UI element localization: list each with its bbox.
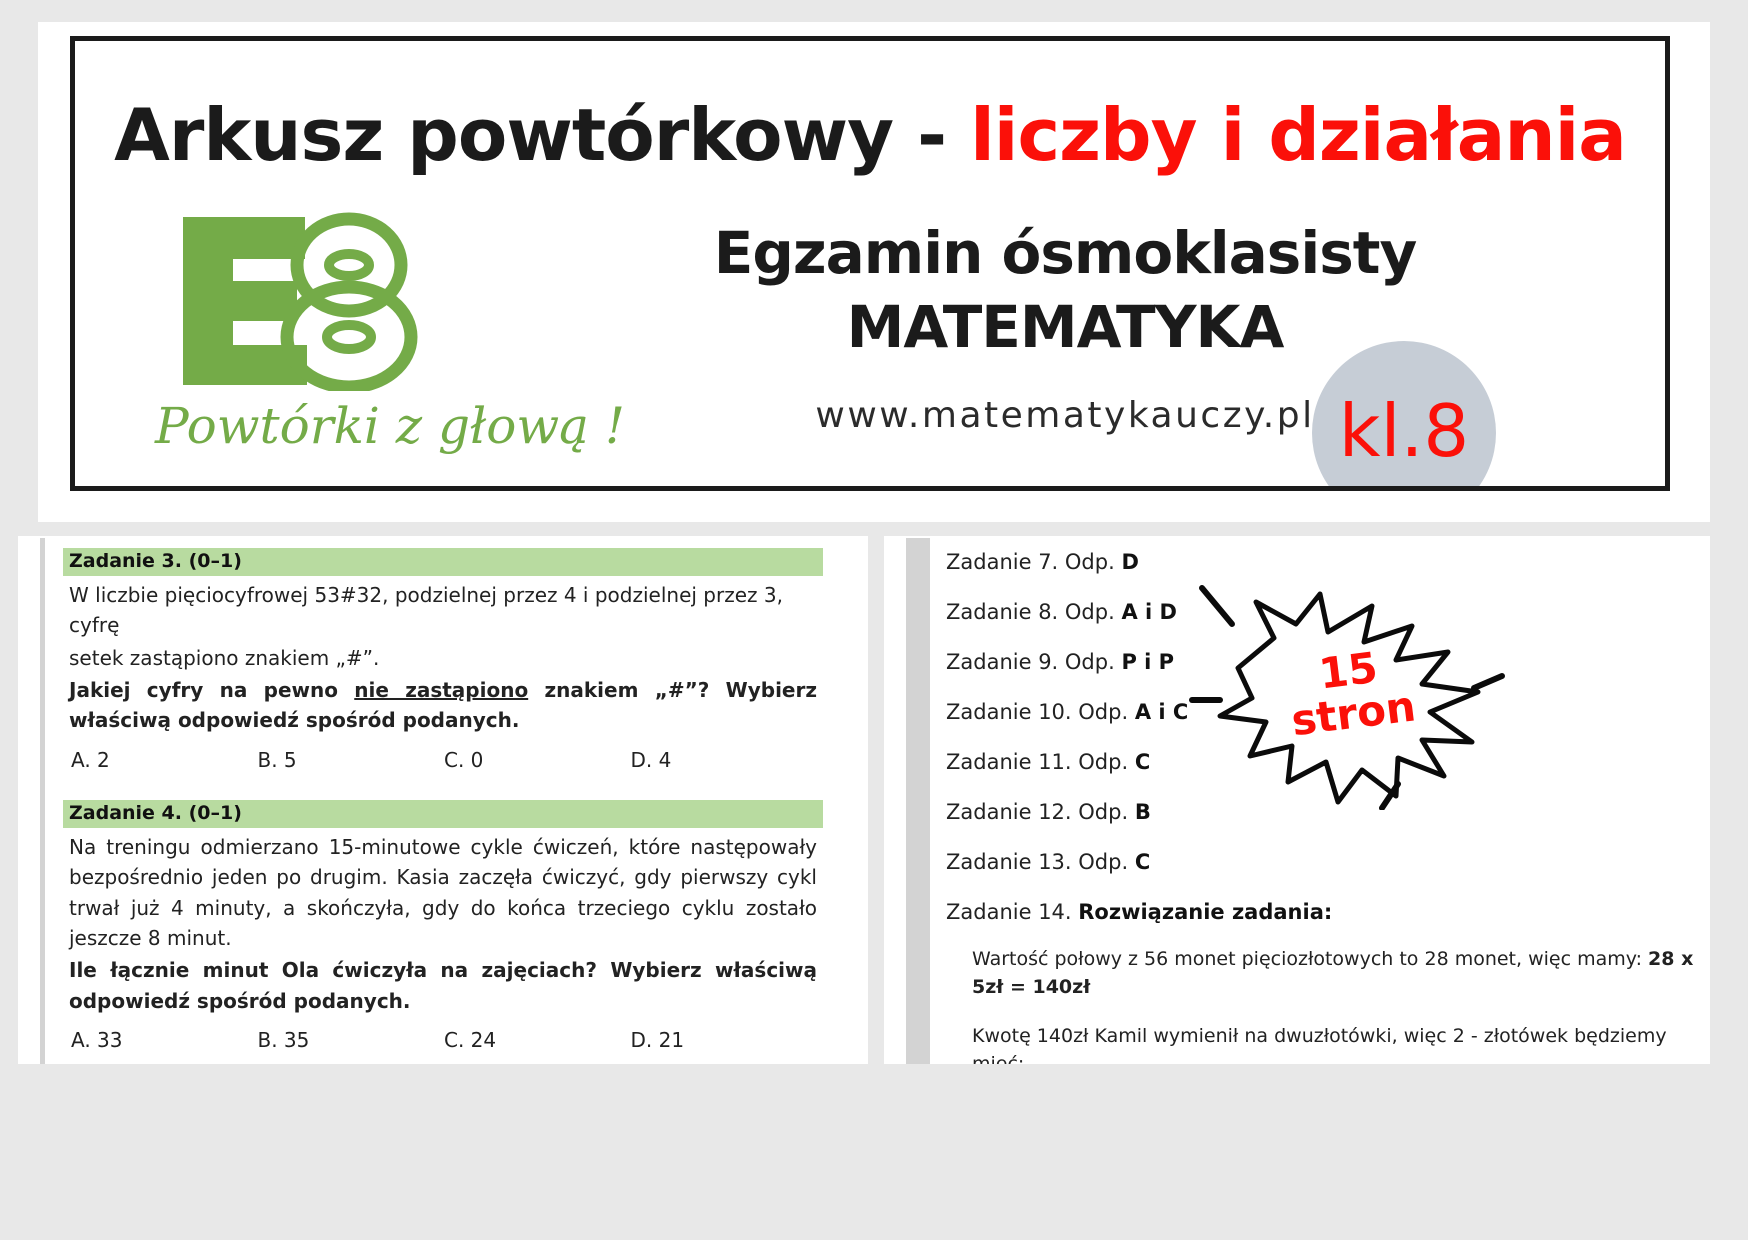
answer-key-value: C bbox=[1135, 850, 1150, 874]
task-line: W liczbie pięciocyfrowej 53#32, podzieln… bbox=[69, 580, 817, 641]
answer-option-d[interactable]: D. 21 bbox=[631, 1028, 818, 1052]
task-body: W liczbie pięciocyfrowej 53#32, podzieln… bbox=[63, 576, 823, 736]
answer-key-label: Zadanie 12. Odp. bbox=[946, 800, 1135, 824]
answer-option-a[interactable]: A. 33 bbox=[71, 1028, 258, 1052]
task-block: Zadanie 3. (0–1) W liczbie pięciocyfrowe… bbox=[63, 548, 823, 772]
right-document-page: Zadanie 7. Odp. D Zadanie 8. Odp. A i D … bbox=[884, 538, 1710, 1064]
task-body: Na treningu odmierzano 15-minutowe cykle… bbox=[63, 828, 823, 1016]
solution-heading: Zadanie 14. Rozwiązanie zadania: bbox=[946, 900, 1696, 924]
answer-key-list: Zadanie 7. Odp. D Zadanie 8. Odp. A i D … bbox=[946, 550, 1696, 1064]
answer-key-label: Zadanie 11. Odp. bbox=[946, 750, 1135, 774]
answer-key-label: Zadanie 10. Odp. bbox=[946, 700, 1135, 724]
answer-key-label: Zadanie 9. Odp. bbox=[946, 650, 1121, 674]
logo-tagline: Powtórki z głową ! bbox=[155, 397, 635, 455]
e8-logo-icon bbox=[177, 211, 437, 396]
answer-option-d[interactable]: D. 4 bbox=[631, 748, 818, 772]
banner-title-red: liczby i działania bbox=[970, 93, 1626, 177]
task-prompt-underline: nie zastąpiono bbox=[354, 678, 528, 702]
task-heading: Zadanie 3. (0–1) bbox=[63, 548, 823, 576]
task-prompt-pre: Jakiej cyfry na pewno bbox=[69, 678, 354, 702]
answer-key-value: A i D bbox=[1121, 600, 1177, 624]
answer-option-c[interactable]: C. 24 bbox=[444, 1028, 631, 1052]
answer-key-row: Zadanie 11. Odp. C bbox=[946, 750, 1696, 774]
solution-heading-value: Rozwiązanie zadania: bbox=[1078, 900, 1332, 924]
banner-title-black: Arkusz powtórkowy - bbox=[114, 93, 970, 177]
answer-key-value: C bbox=[1135, 750, 1150, 774]
answer-key-row: Zadanie 8. Odp. A i D bbox=[946, 600, 1696, 624]
task-heading: Zadanie 4. (0–1) bbox=[63, 800, 823, 828]
right-document-panel: Zadanie 7. Odp. D Zadanie 8. Odp. A i D … bbox=[884, 536, 1710, 1064]
answer-option-b[interactable]: B. 35 bbox=[258, 1028, 445, 1052]
header-framed-banner: Arkusz powtórkowy - liczby i działania P… bbox=[70, 36, 1670, 491]
task-block: Zadanie 4. (0–1) Na treningu odmierzano … bbox=[63, 800, 823, 1052]
task-line: setek zastąpiono znakiem „#”. bbox=[69, 643, 817, 673]
task-answer-options: A. 33 B. 35 C. 24 D. 21 bbox=[63, 1018, 823, 1052]
solution-line: Kwotę 140zł Kamil wymienił na dwuzłotówk… bbox=[972, 1023, 1696, 1064]
answer-key-label: Zadanie 8. Odp. bbox=[946, 600, 1121, 624]
solution-text: Wartość połowy z 56 monet pięciozłotowyc… bbox=[972, 948, 1648, 970]
left-document-panel: Zadanie 3. (0–1) W liczbie pięciocyfrowe… bbox=[18, 536, 868, 1064]
answer-key-label: Zadanie 13. Odp. bbox=[946, 850, 1135, 874]
answer-option-b[interactable]: B. 5 bbox=[258, 748, 445, 772]
answer-option-a[interactable]: A. 2 bbox=[71, 748, 258, 772]
page-gutter bbox=[906, 538, 930, 1064]
answer-option-c[interactable]: C. 0 bbox=[444, 748, 631, 772]
solution-heading-label: Zadanie 14. bbox=[946, 900, 1078, 924]
task-answer-options: A. 2 B. 5 C. 0 D. 4 bbox=[63, 738, 823, 772]
task-prompt: Ile łącznie minut Ola ćwiczyła na zajęci… bbox=[69, 955, 817, 1016]
exam-title-line1: Egzamin ósmoklasisty bbox=[595, 219, 1535, 287]
answer-key-value: A i C bbox=[1135, 700, 1188, 724]
task-line: Na treningu odmierzano 15-minutowe cykle… bbox=[69, 832, 817, 954]
answer-key-row: Zadanie 12. Odp. B bbox=[946, 800, 1696, 824]
solution-line: Wartość połowy z 56 monet pięciozłotowyc… bbox=[972, 946, 1696, 1001]
answer-key-value: D bbox=[1121, 550, 1138, 574]
solution-text: Kwotę 140zł Kamil wymienił na dwuzłotówk… bbox=[972, 1025, 1667, 1064]
task-prompt: Jakiej cyfry na pewno nie zastąpiono zna… bbox=[69, 675, 817, 736]
answer-key-value: B bbox=[1135, 800, 1151, 824]
header-card: Arkusz powtórkowy - liczby i działania P… bbox=[38, 22, 1710, 522]
banner-title: Arkusz powtórkowy - liczby i działania bbox=[75, 93, 1665, 177]
answer-key-label: Zadanie 7. Odp. bbox=[946, 550, 1121, 574]
left-task-list: Zadanie 3. (0–1) W liczbie pięciocyfrowe… bbox=[63, 548, 823, 1064]
logo-block: Powtórki z głową ! bbox=[155, 211, 635, 471]
answer-key-value: P i P bbox=[1121, 650, 1174, 674]
left-document-page: Zadanie 3. (0–1) W liczbie pięciocyfrowe… bbox=[40, 538, 846, 1064]
answer-key-row: Zadanie 7. Odp. D bbox=[946, 550, 1696, 574]
answer-key-row: Zadanie 13. Odp. C bbox=[946, 850, 1696, 874]
class-badge-label: kl.8 bbox=[1339, 395, 1469, 467]
